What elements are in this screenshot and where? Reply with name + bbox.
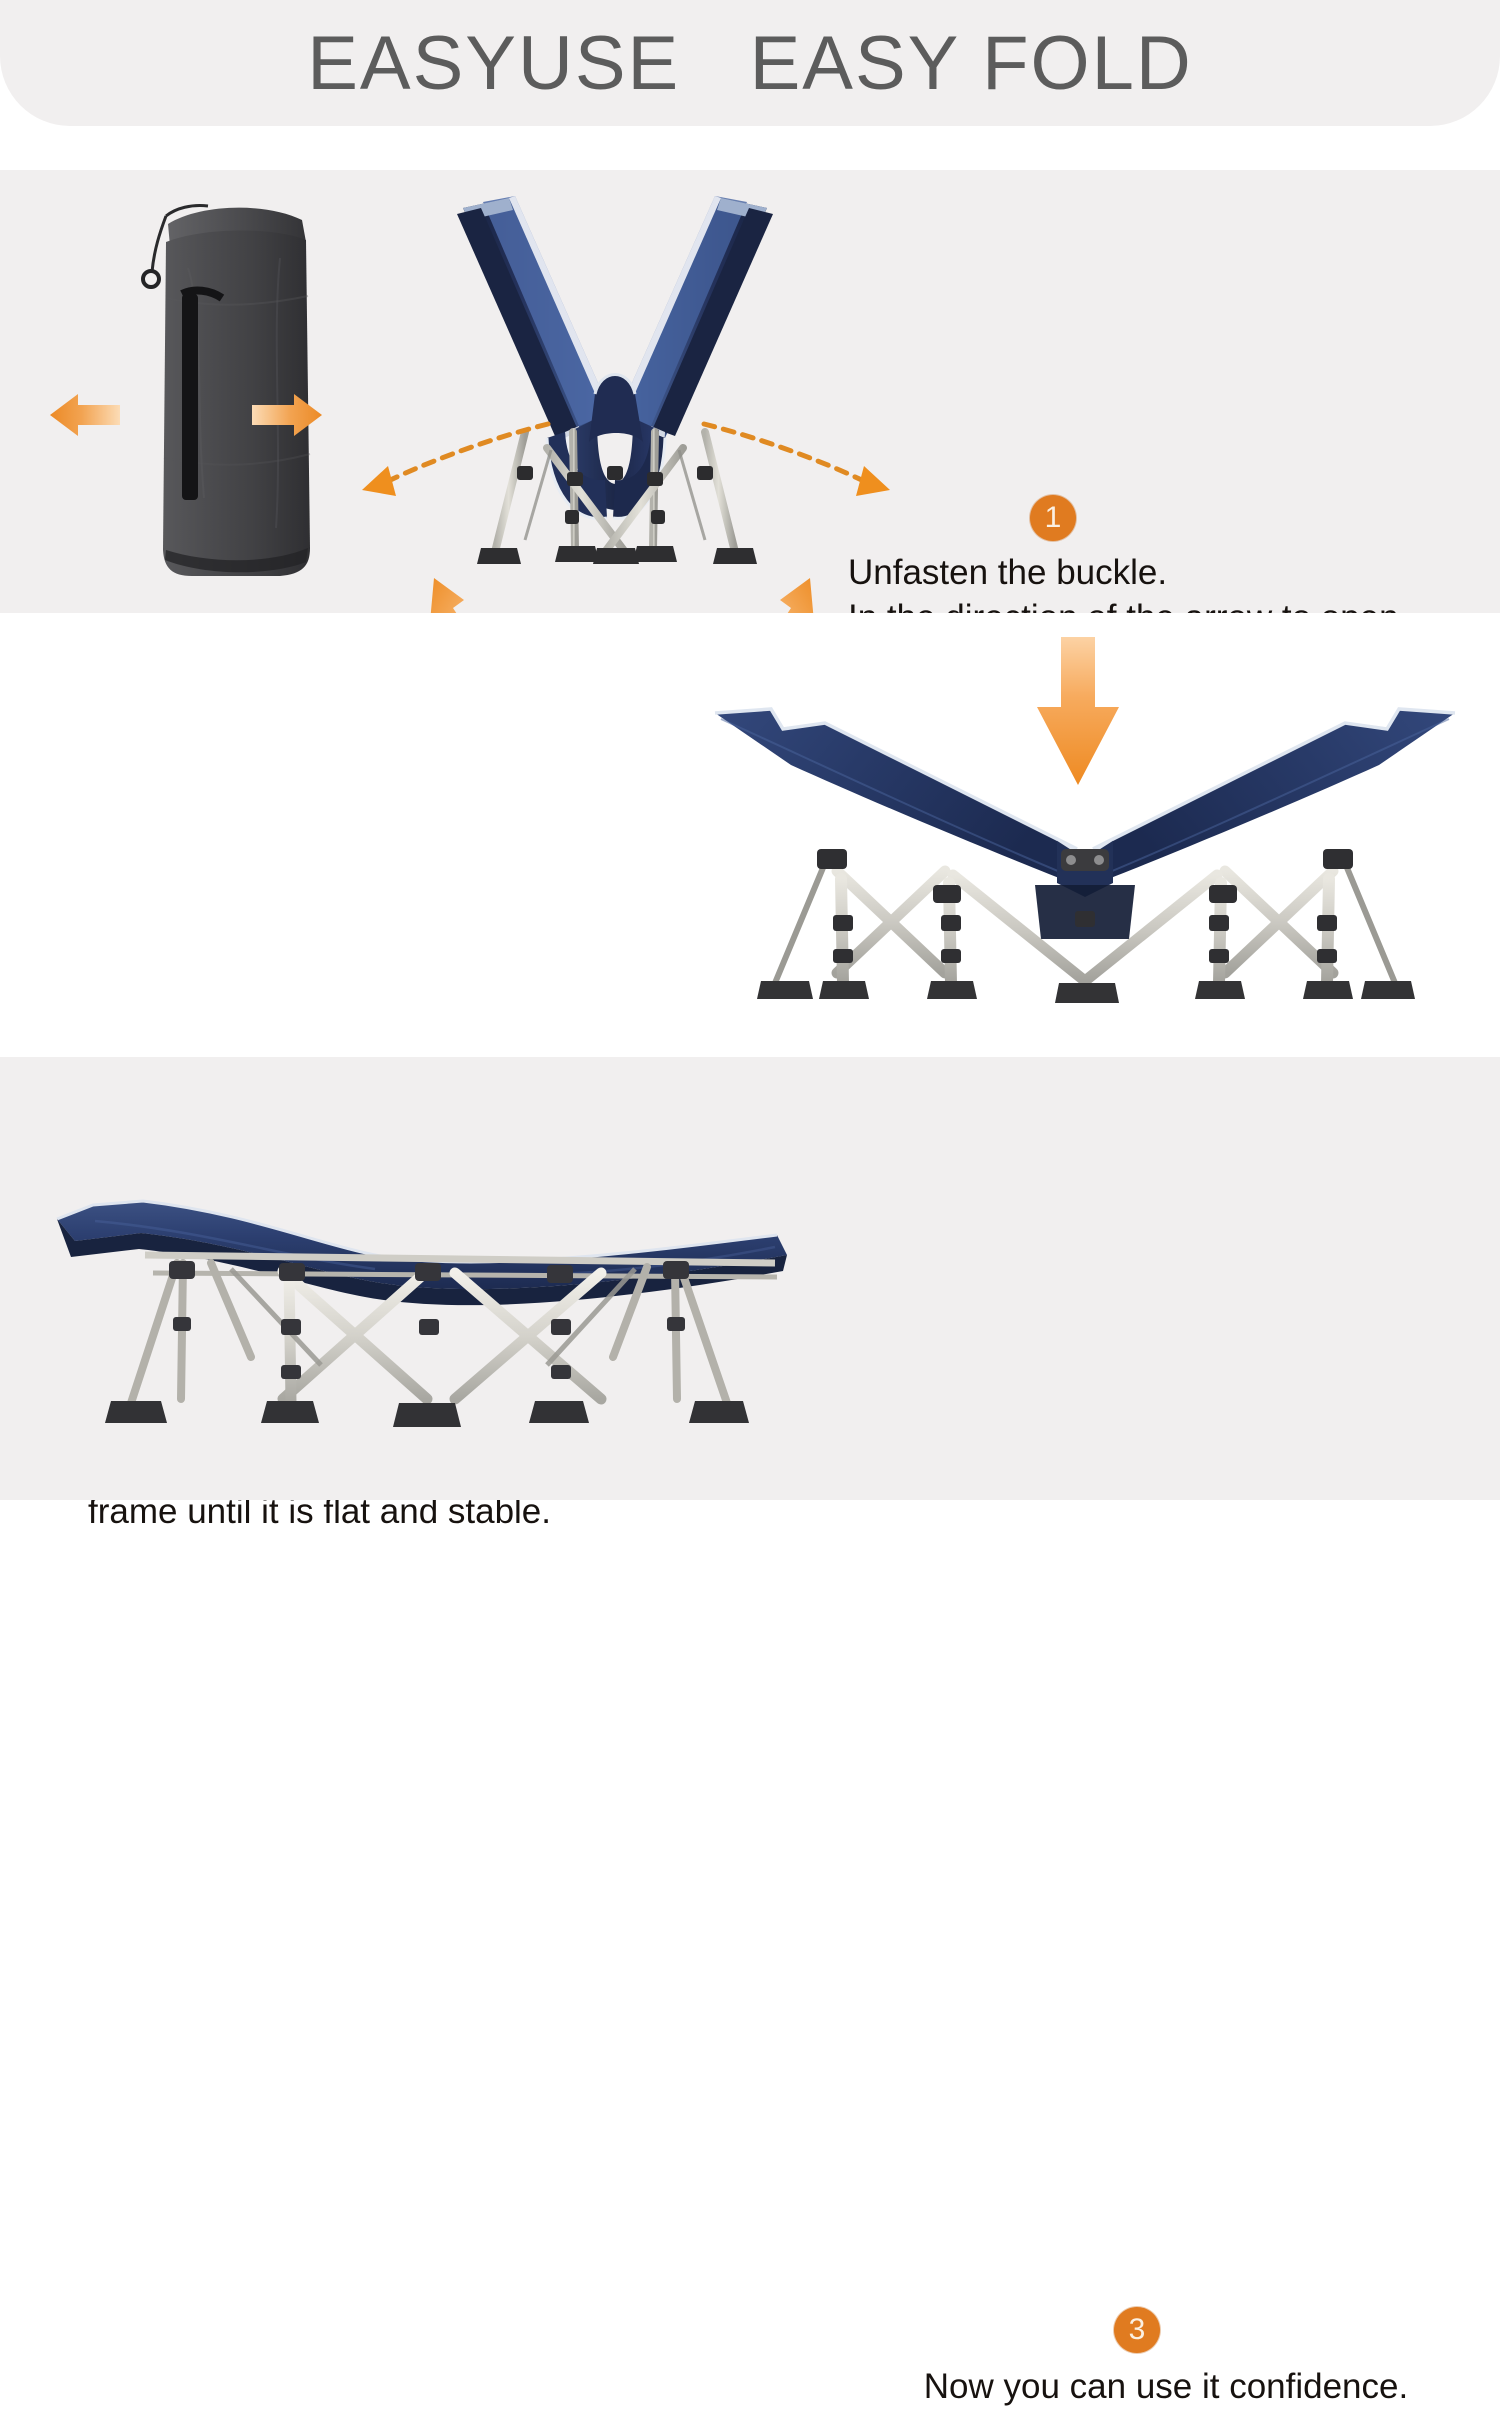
panel-step-2: 2 PRESS DOWN the arrow in the middle fra… (0, 613, 1500, 1057)
arrow-down-press-icon (1035, 635, 1121, 787)
arrow-right-horizontal-icon (252, 392, 324, 438)
header-band: EASYUSE EASY FOLD (0, 0, 1500, 126)
arrow-left-horizontal-icon (48, 392, 120, 438)
step-3-text-block: 3 Now you can use it confidence. (866, 2307, 1466, 2410)
step-badge-1: 1 (1030, 495, 1076, 541)
cot-flat-assembled (35, 1177, 815, 1477)
arrow-dashed-open-left-icon (352, 418, 552, 510)
page-title: EASYUSE EASY FOLD (307, 20, 1193, 107)
folded-cot-w-shape (455, 180, 775, 605)
panel-step-3: 3 Now you can use it confidence. (0, 1057, 1500, 1500)
panel-step-1: 1 Unfasten the buckle. In the direction … (0, 170, 1500, 613)
step-3-caption: Now you can use it confidence. (866, 2365, 1466, 2410)
carry-bag (130, 198, 360, 588)
step-badge-3: 3 (1114, 2307, 1160, 2353)
